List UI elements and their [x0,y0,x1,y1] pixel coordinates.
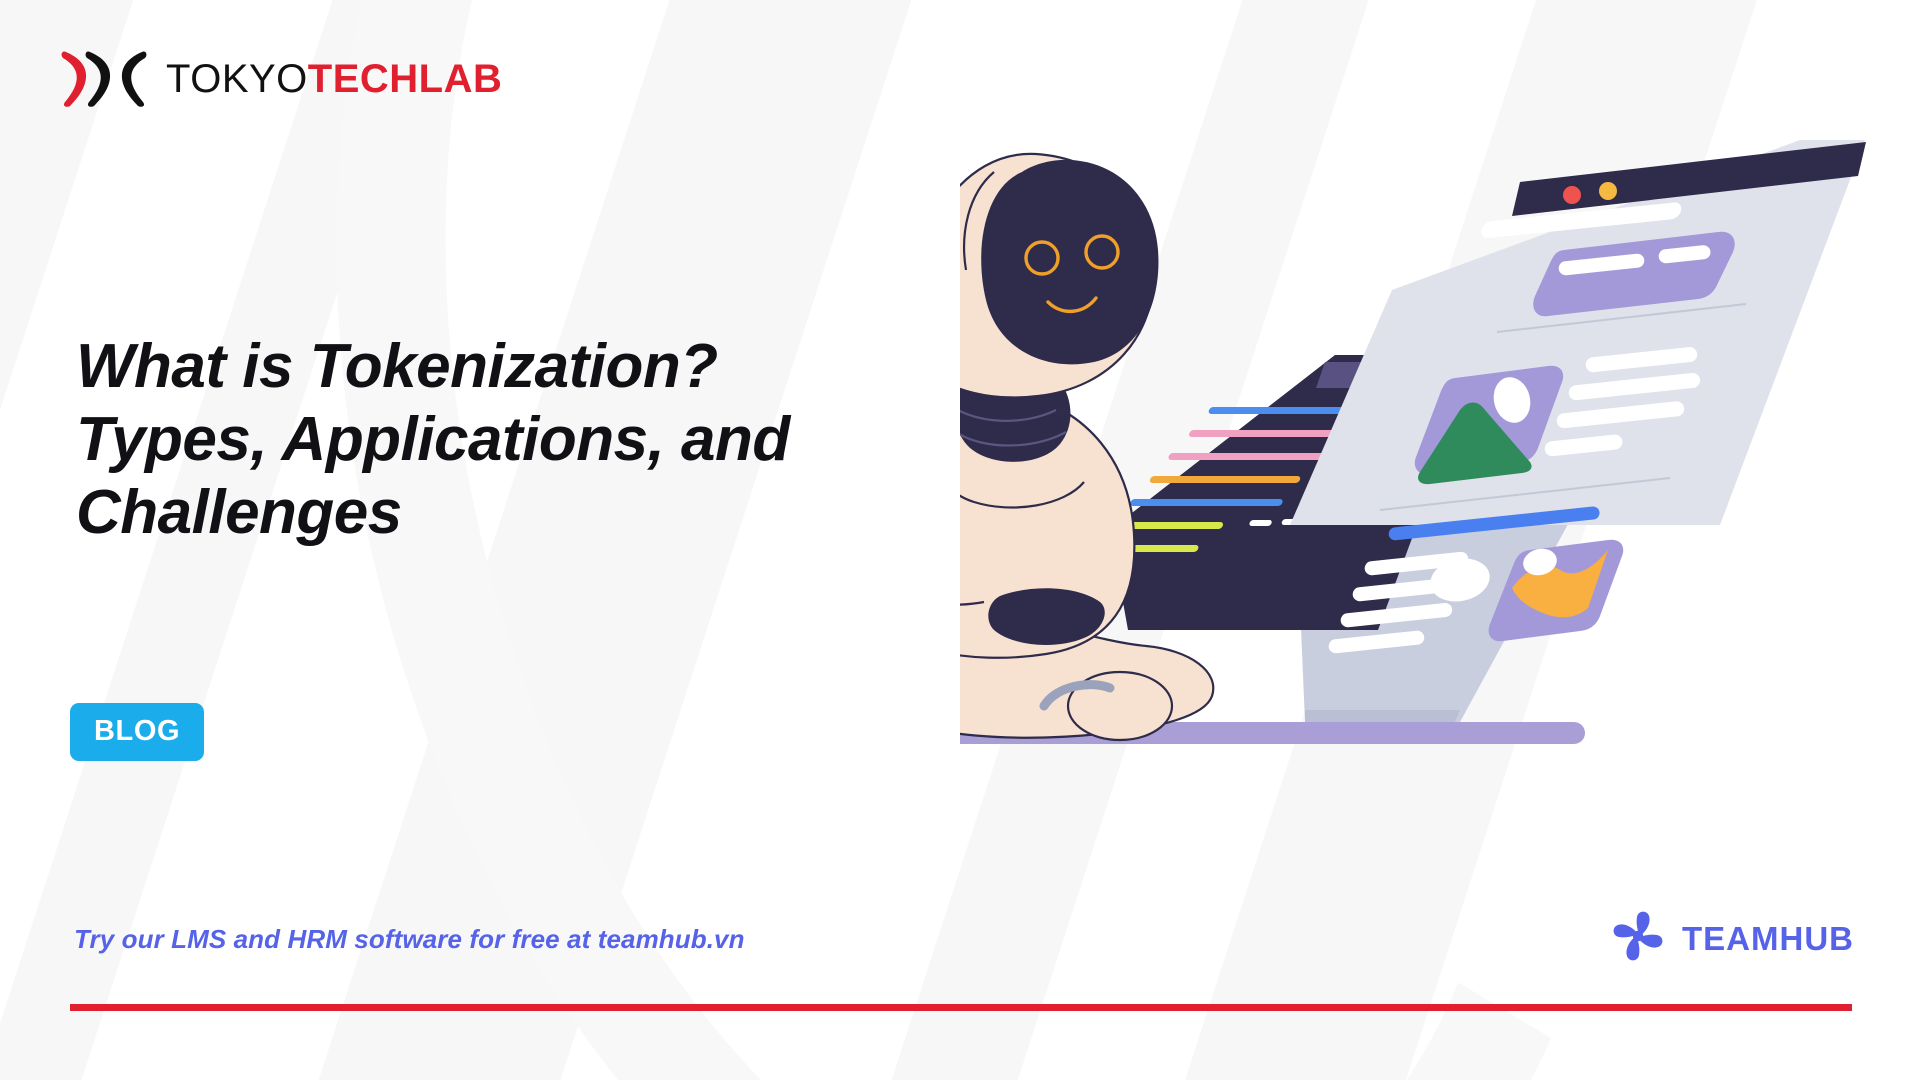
robot-with-laptop-and-ui-panels [960,110,1880,810]
teamhub-pinwheel-icon [1610,908,1666,969]
category-badge-blog[interactable]: BLOG [70,703,204,761]
robot-visor [981,160,1158,364]
panel-dot-yellow [1599,182,1617,200]
tokyo-techlab-arcs-mark [60,48,148,110]
page-title-line-3: Challenges [76,476,976,549]
teamhub-wordmark: TEAMHUB [1682,922,1854,955]
tokyo-techlab-logo[interactable]: TOKYOTECHLAB [60,48,502,110]
page-title: What is Tokenization? Types, Application… [76,330,976,549]
blog-cover-canvas: TOKYOTECHLAB What is Tokenization? Types… [0,0,1920,1080]
panel-dot-red [1563,186,1581,204]
page-title-line-1: What is Tokenization? [76,330,976,403]
teamhub-logo[interactable]: TEAMHUB [1610,908,1854,969]
page-title-line-2: Types, Applications, and [76,403,976,476]
robot-figure [960,154,1213,740]
logo-word-techlab: TECHLAB [308,57,503,101]
logo-word-tokyo: TOKYO [166,57,308,101]
footer-divider [70,1004,1852,1011]
logo-wordmark: TOKYOTECHLAB [166,59,502,99]
promo-tagline[interactable]: Try our LMS and HRM software for free at… [74,924,745,955]
